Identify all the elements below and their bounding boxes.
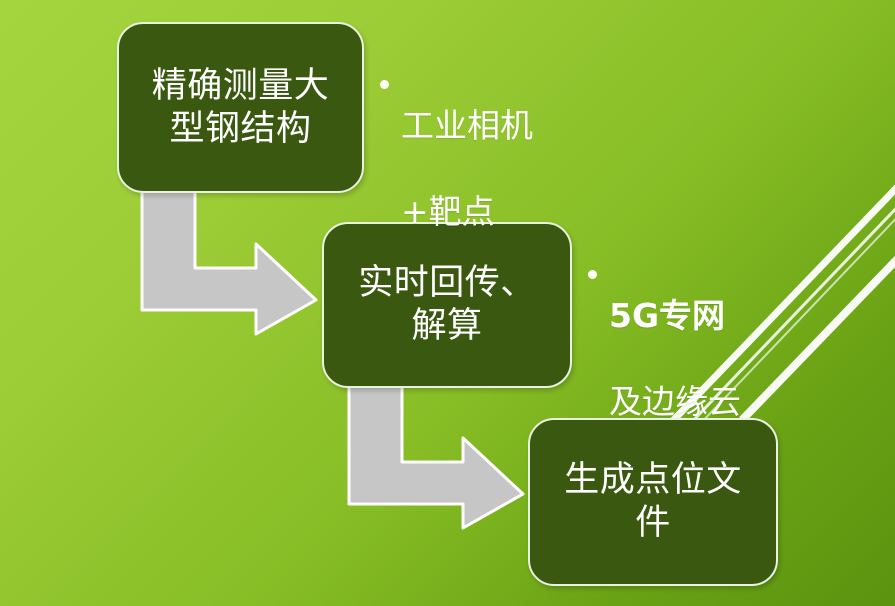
process-box-label: 生成点位文 件 <box>548 459 758 544</box>
arrow-shape <box>349 384 523 528</box>
bullet-note-line-1: 工业相机 <box>401 106 533 145</box>
process-box-measure[interactable]: 精确测量大 型钢结构 <box>117 22 364 193</box>
bullet-note-network: 5G专网 及边缘云 <box>588 252 818 424</box>
bullet-note-line-2: 及边缘云 <box>609 382 741 421</box>
bullet-dot-icon <box>588 270 597 279</box>
elbow-arrow-2 <box>345 382 527 530</box>
process-box-generate[interactable]: 生成点位文 件 <box>528 418 778 586</box>
process-box-transmit[interactable]: 实时回传、 解算 <box>322 222 572 388</box>
bullet-note-text: 工业相机 +靶点 <box>401 62 533 234</box>
bullet-note-camera: 工业相机 +靶点 <box>380 62 610 234</box>
bullet-dot-icon <box>380 80 389 89</box>
bullet-note-line-1: 5G专网 <box>609 296 725 335</box>
elbow-arrow-1 <box>138 188 320 336</box>
process-box-label: 实时回传、 解算 <box>342 262 552 347</box>
process-box-label: 精确测量大 型钢结构 <box>136 65 346 150</box>
arrow-shape <box>142 190 316 334</box>
slide-canvas: 精确测量大 型钢结构 实时回传、 解算 生成点位文 件 工业相机 +靶点 5G专… <box>0 0 895 606</box>
bullet-note-line-2: +靶点 <box>401 192 495 231</box>
bullet-note-text: 5G专网 及边缘云 <box>609 252 741 424</box>
